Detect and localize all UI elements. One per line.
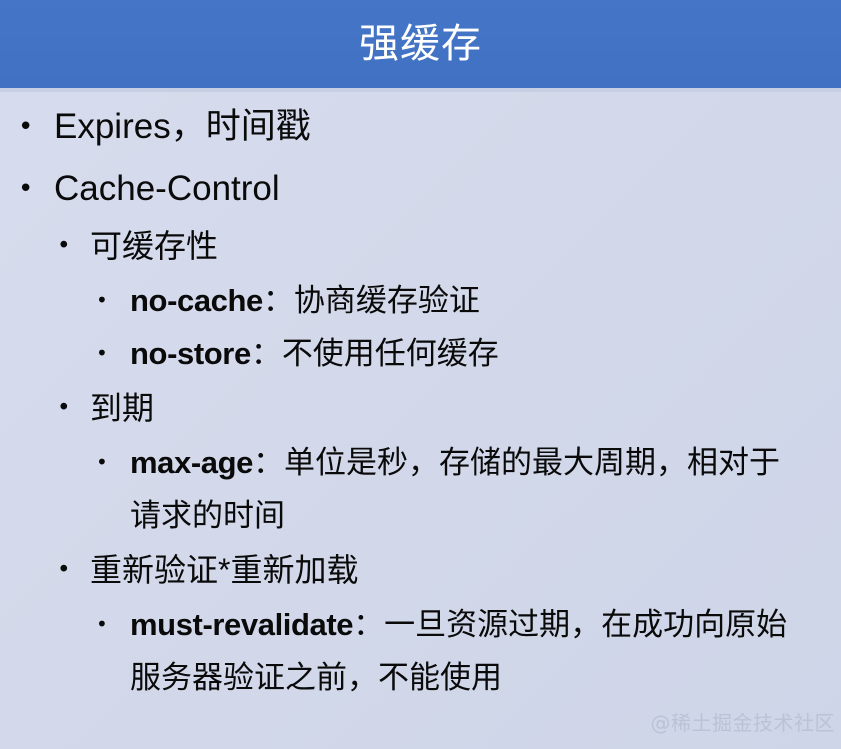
list-item-label: Expires，时间戳	[54, 98, 841, 156]
title-bar-underline	[0, 88, 841, 92]
bullet-icon: •	[57, 542, 71, 598]
directive-description: 不使用任何缓存	[282, 336, 499, 371]
list-item-label: Cache-Control	[54, 160, 841, 218]
list-item-label: no-store：不使用任何缓存	[130, 327, 841, 380]
bullet-icon: •	[57, 380, 71, 436]
list-item: • no-cache：协商缓存验证	[0, 274, 841, 327]
bullet-icon: •	[18, 98, 33, 156]
list-item: • max-age：单位是秒，存储的最大周期，相对于请求的时间	[0, 436, 841, 542]
list-item: • 重新验证*重新加载	[0, 542, 841, 598]
list-item: • 到期	[0, 380, 841, 436]
list-item: • Cache-Control	[0, 160, 841, 218]
colon-separator: ：	[263, 283, 294, 318]
colon-separator: ：	[253, 445, 284, 480]
list-item-label: 可缓存性	[90, 218, 841, 274]
list-item-label: max-age：单位是秒，存储的最大周期，相对于请求的时间	[130, 436, 841, 542]
page-title: 强缓存	[0, 18, 841, 70]
directive-name: no-cache	[130, 283, 263, 318]
watermark: @稀土掘金技术社区	[651, 711, 836, 735]
colon-separator: ：	[251, 336, 282, 371]
colon-separator: ：	[353, 607, 384, 642]
list-item-label: no-cache：协商缓存验证	[130, 274, 841, 327]
list-item: • must-revalidate：一旦资源过期，在成功向原始服务器验证之前，不…	[0, 598, 841, 704]
list-item: • no-store：不使用任何缓存	[0, 327, 841, 380]
bullet-icon: •	[18, 160, 33, 218]
slide-canvas: 强缓存 • Expires，时间戳 • Cache-Control • 可缓存性…	[0, 0, 841, 749]
list-item: • Expires，时间戳	[0, 98, 841, 156]
bullet-icon: •	[96, 327, 108, 380]
directive-name: max-age	[130, 445, 253, 480]
bullet-icon: •	[57, 218, 71, 274]
directive-name: no-store	[130, 336, 251, 371]
bullet-icon: •	[96, 598, 108, 651]
bullet-list: • Expires，时间戳 • Cache-Control • 可缓存性 • n…	[0, 94, 841, 704]
list-item-label: 重新验证*重新加载	[90, 542, 841, 598]
directive-name: must-revalidate	[130, 607, 353, 642]
list-item-label: must-revalidate：一旦资源过期，在成功向原始服务器验证之前，不能使…	[130, 598, 841, 704]
list-item-label: 到期	[90, 380, 841, 436]
directive-description: 协商缓存验证	[294, 283, 480, 318]
bullet-icon: •	[96, 274, 108, 327]
bullet-icon: •	[96, 436, 108, 489]
list-item: • 可缓存性	[0, 218, 841, 274]
